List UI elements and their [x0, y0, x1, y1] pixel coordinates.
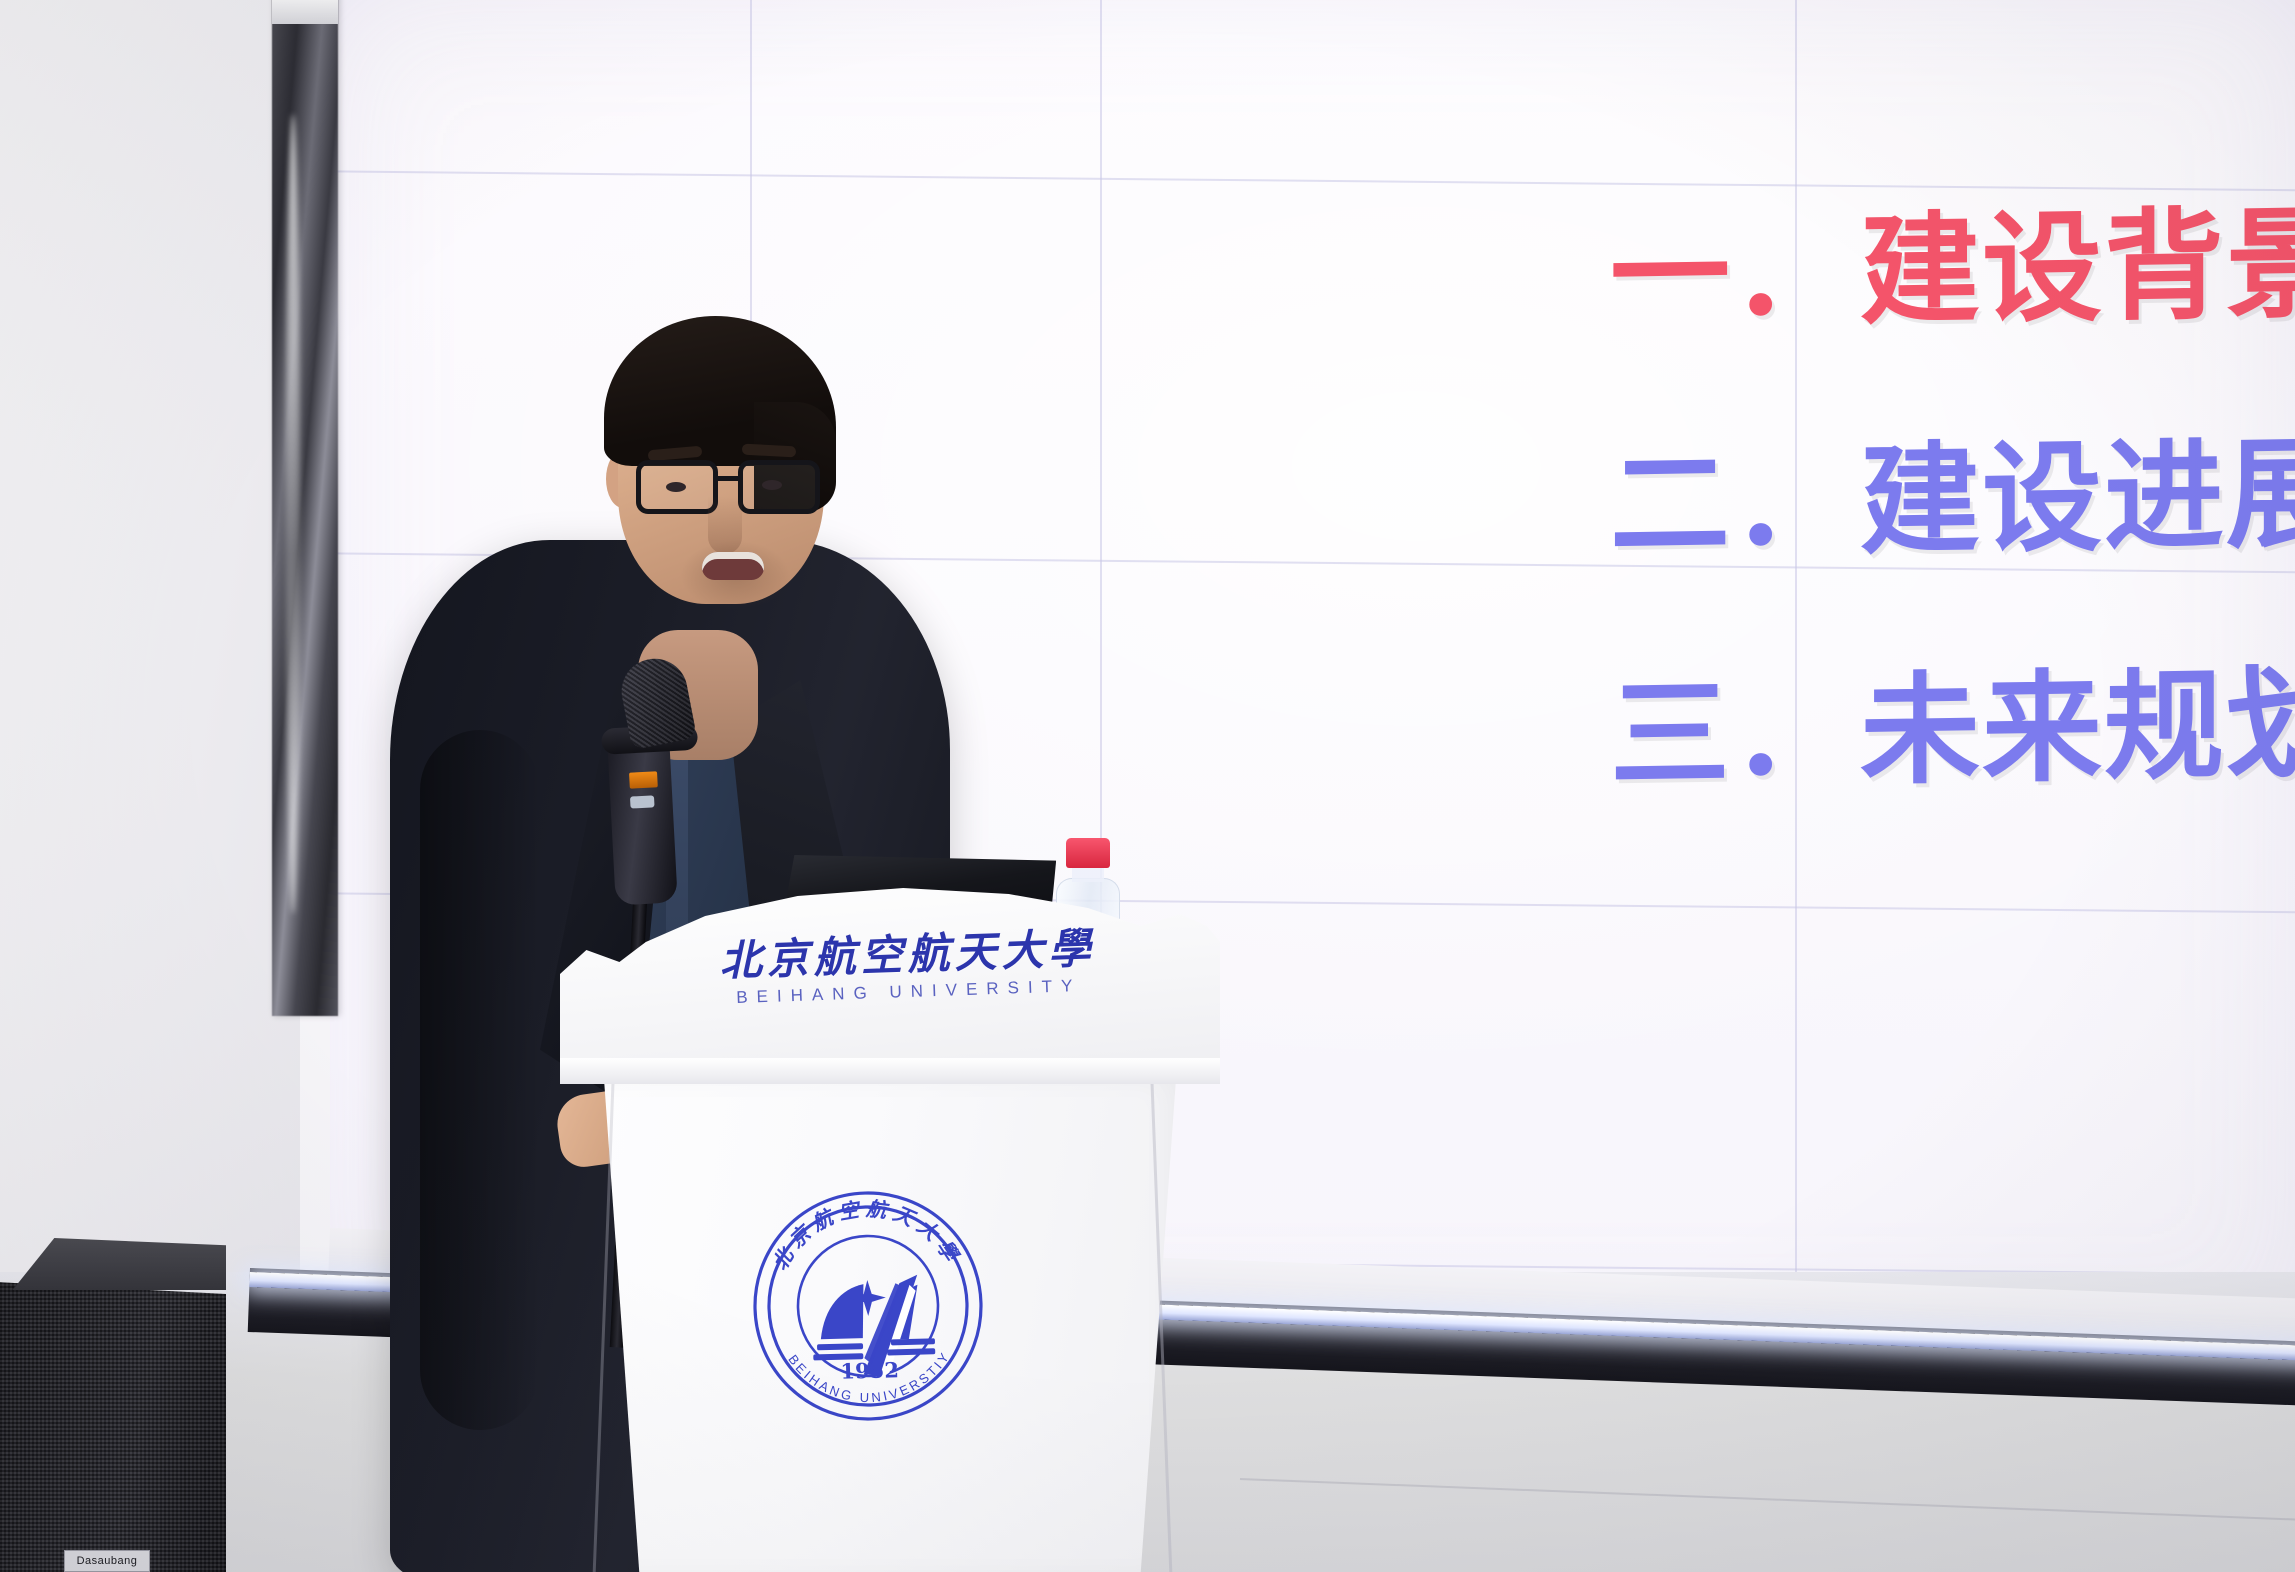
pa-speaker: Dasaubang: [0, 1238, 234, 1572]
lectern-header-band: [560, 1058, 1220, 1084]
left-wall: [0, 0, 300, 1360]
lectern-edge-left: [592, 1082, 614, 1572]
agenda-item-1: 一． 建设背景: [1610, 134, 2295, 379]
agenda-item-1-title: 建设背景: [1860, 166, 2295, 348]
seal-year: 1952: [840, 1357, 899, 1384]
presenter-nose: [708, 496, 742, 554]
bottle-neck: [1072, 866, 1104, 882]
column-cap: [272, 0, 338, 24]
agenda-item-2-number: 二．: [1610, 404, 1860, 582]
lectern-chinese-name: 北京航空航天大學: [677, 926, 1138, 984]
slide-agenda-list: 一． 建设背景 二． 建设进展 三． 未来规划: [1610, 142, 2295, 832]
lectern: 北京航空航天大學 BEIHANG UNIVERSITY: [560, 882, 1220, 1572]
microphone-button[interactable]: [630, 795, 655, 808]
agenda-item-2: 二． 建设进展: [1610, 364, 2295, 609]
microphone-display: [629, 771, 658, 788]
agenda-item-3-title: 未来规划: [1860, 626, 2295, 808]
reflective-column: [272, 0, 338, 1016]
eyeglass-lens-left: [636, 460, 718, 514]
agenda-item-2-title: 建设进展: [1860, 396, 2295, 578]
speaker-grille: [0, 1282, 226, 1572]
agenda-item-3: 三． 未来规划: [1610, 594, 2295, 839]
presenter-hair: [604, 316, 836, 466]
presenter-mouth: [702, 552, 764, 580]
eyeglass-lens-right: [738, 460, 820, 514]
agenda-item-1-number: 一．: [1610, 174, 1860, 352]
microphone-body: [607, 732, 678, 905]
bottle-cap: [1066, 838, 1110, 868]
eyeglass-bridge: [718, 476, 740, 481]
speaker-brand-badge: Dasaubang: [64, 1550, 150, 1572]
agenda-item-3-number: 三．: [1610, 634, 1860, 812]
presenter-description: Man in dark suit jacket and navy shirt w…: [390, 300, 391, 301]
speaker-top: [0, 1238, 226, 1290]
university-seal: 北京航空航天大學 BEIHANG UNIVERSTIY 1952 北京航空航天大…: [747, 1185, 989, 1427]
presentation-scene: 一． 建设背景 二． 建设进展 三． 未来规划: [0, 0, 2295, 1572]
